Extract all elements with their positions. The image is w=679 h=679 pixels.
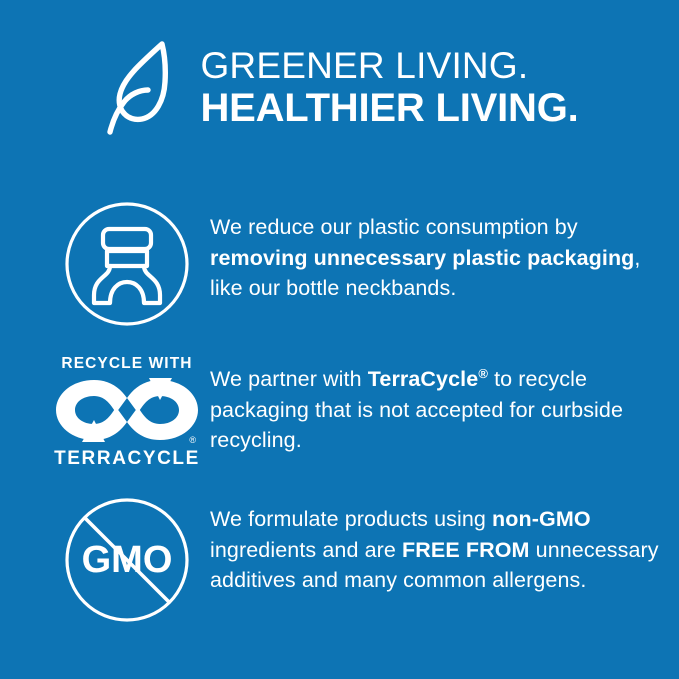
text-segment: We reduce our plastic consumption by [210,215,578,239]
text-segment-bold: TerraCycle [368,367,479,391]
registered-mark: ® [478,366,488,381]
text-segment: We formulate products using [210,507,492,531]
text-segment-bold: removing unnecessary plastic packaging [210,246,634,270]
terracycle-top-label: RECYCLE WITH [61,356,192,372]
text-segment-bold: non-GMO [492,507,591,531]
benefit-row-non-gmo: GMO We formulate products using non-GMO … [0,486,679,634]
recycle-infinity-icon: ® [54,376,200,444]
benefit-text-plastic-reduction: We reduce our plastic consumption by rem… [202,190,679,304]
leaf-icon [100,38,186,138]
benefit-rows: We reduce our plastic consumption by rem… [0,190,679,634]
headline-greener-living: GREENER LIVING. [200,45,578,86]
gmo-label: GMO [82,539,173,581]
greener-living-infographic: GREENER LIVING. HEALTHIER LIVING. [0,0,679,679]
terracycle-logo: RECYCLE WITH [52,338,202,486]
header: GREENER LIVING. HEALTHIER LIVING. [0,38,679,138]
headline-healthier-living: HEALTHIER LIVING. [200,86,578,131]
benefit-row-plastic-reduction: We reduce our plastic consumption by rem… [0,190,679,338]
bottle-neckband-icon [52,190,202,338]
terracycle-bottom-label: TERRACYCLE [54,449,200,468]
no-gmo-icon: GMO [52,486,202,634]
benefit-text-non-gmo: We formulate products using non-GMO ingr… [202,486,679,596]
benefit-row-terracycle: RECYCLE WITH [0,338,679,486]
text-segment-bold: FREE FROM [402,538,530,562]
text-segment: We partner with [210,367,368,391]
header-text: GREENER LIVING. HEALTHIER LIVING. [200,45,578,131]
registered-mark-icon: ® [189,436,196,445]
benefit-text-terracycle: We partner with TerraCycle® to recycle p… [202,338,679,456]
text-segment: ingredients and are [210,538,402,562]
